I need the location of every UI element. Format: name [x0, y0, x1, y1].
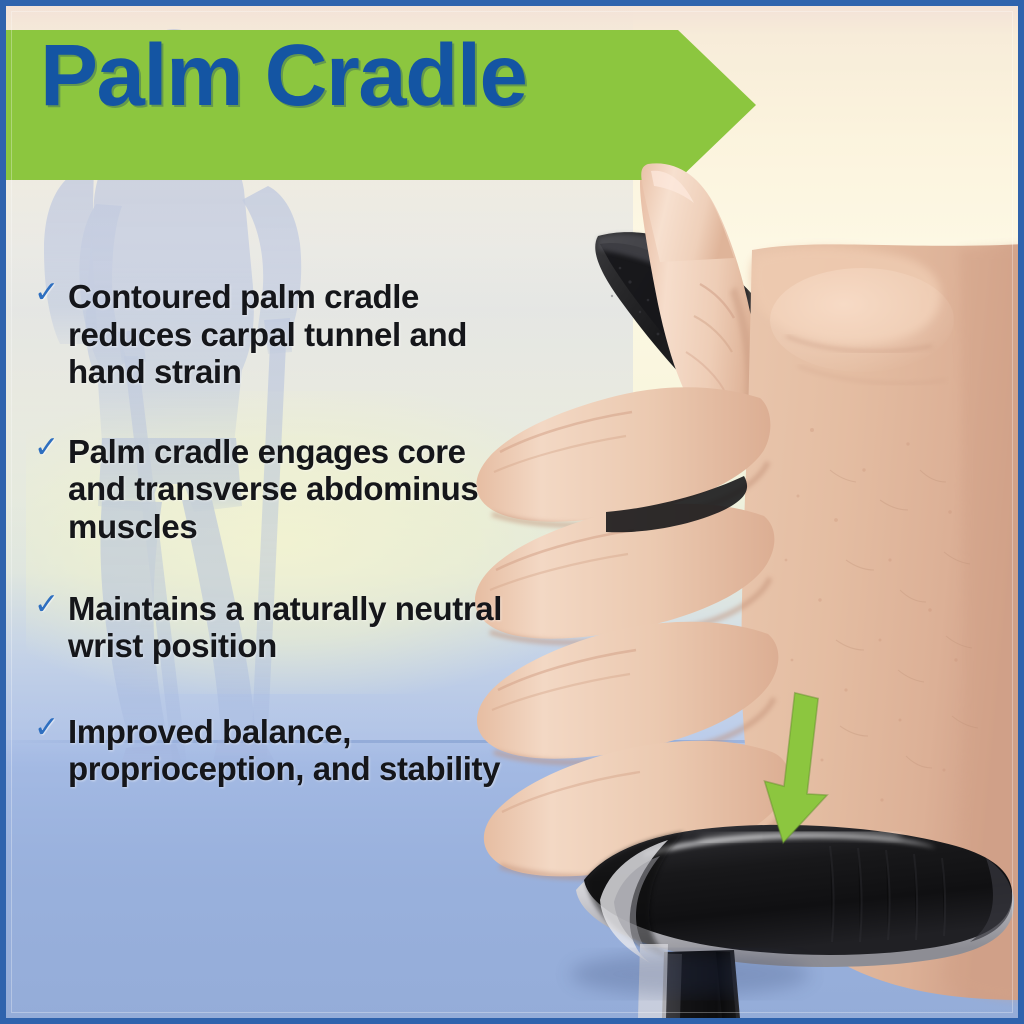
infographic-canvas: Palm Cradle ✓ Contoured palm cradle redu… [0, 0, 1024, 1024]
checkmark-icon: ✓ [34, 590, 68, 619]
list-item: ✓ Palm cradle engages core and transvers… [34, 433, 504, 546]
down-arrow-icon [757, 688, 837, 848]
feature-bullet-list: ✓ Contoured palm cradle reduces carpal t… [34, 278, 504, 788]
list-item: ✓ Maintains a naturally neutral wrist po… [34, 590, 504, 665]
bullet-text: Palm cradle engages core and transverse … [68, 433, 504, 546]
list-item: ✓ Improved balance, proprioception, and … [34, 713, 504, 788]
bullet-text: Improved balance, proprioception, and st… [68, 713, 504, 788]
bullet-text: Maintains a naturally neutral wrist posi… [68, 590, 504, 665]
checkmark-icon: ✓ [34, 713, 68, 742]
checkmark-icon: ✓ [34, 278, 68, 307]
list-item: ✓ Contoured palm cradle reduces carpal t… [34, 278, 504, 391]
page-title: Palm Cradle [40, 32, 526, 119]
bullet-text: Contoured palm cradle reduces carpal tun… [68, 278, 504, 391]
checkmark-icon: ✓ [34, 433, 68, 462]
